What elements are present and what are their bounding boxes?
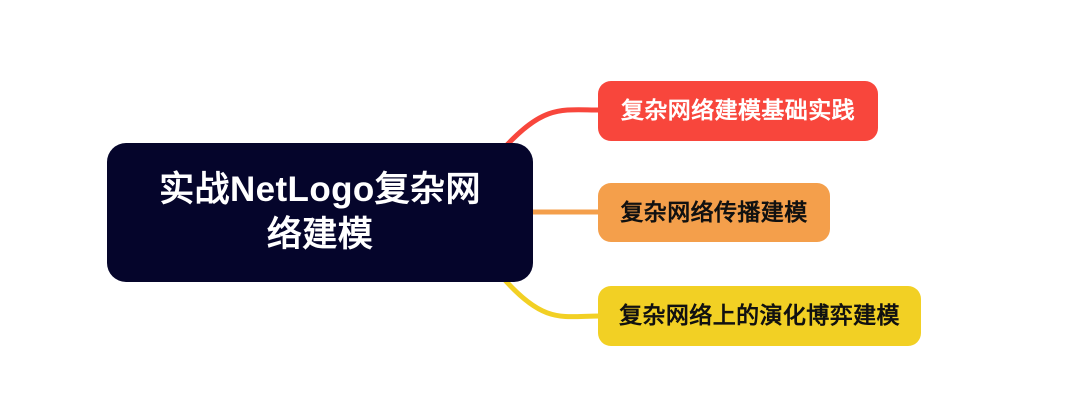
mindmap-branch-node-2[interactable]: 复杂网络传播建模 [598,183,830,242]
connector-root-to-branch-0 [506,110,600,146]
connector-root-to-branch-2 [504,279,600,317]
mindmap-canvas: 实战NetLogo复杂网 络建模 复杂网络建模基础实践 复杂网络传播建模 复杂网… [0,0,1080,407]
branch-node-2-label: 复杂网络传播建模 [620,198,807,227]
mindmap-branch-node-1[interactable]: 复杂网络建模基础实践 [598,81,878,141]
branch-node-3-label: 复杂网络上的演化博弈建模 [619,301,900,330]
mindmap-branch-node-3[interactable]: 复杂网络上的演化博弈建模 [598,286,921,346]
root-node-label: 实战NetLogo复杂网 络建模 [159,168,481,258]
branch-node-1-label: 复杂网络建模基础实践 [621,96,855,125]
mindmap-root-node[interactable]: 实战NetLogo复杂网 络建模 [107,143,533,282]
